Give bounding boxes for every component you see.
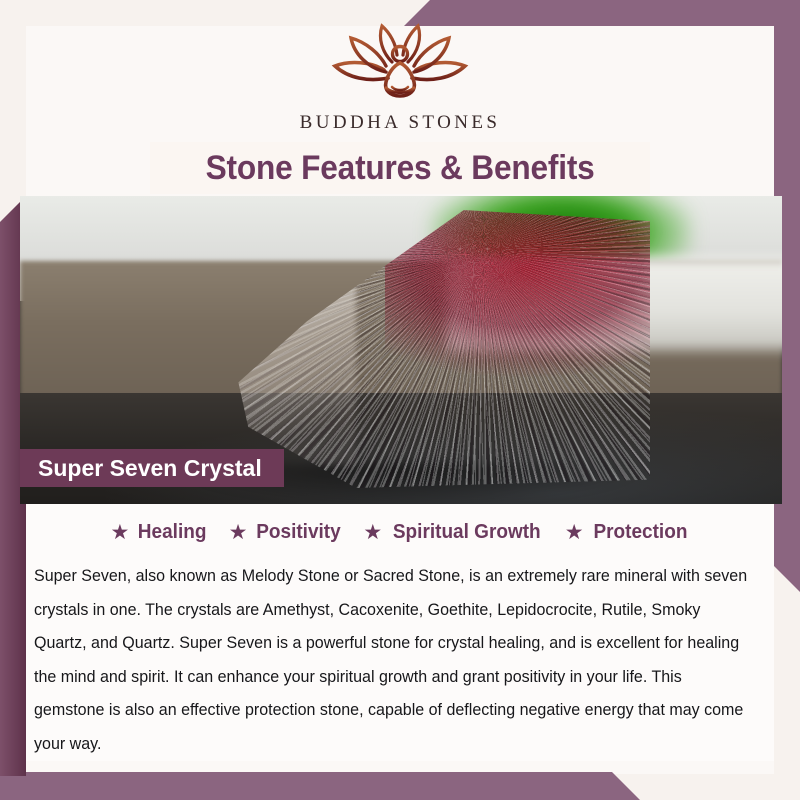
star-icon: ★ — [565, 522, 584, 543]
title-banner: Stone Features & Benefits — [150, 142, 650, 194]
benefit-item-healing: ★ Healing — [111, 521, 209, 544]
brand-logo: BUDDHA STONES — [0, 22, 800, 134]
benefit-label: Healing — [138, 521, 207, 544]
star-icon: ★ — [363, 522, 382, 543]
benefit-item-protection: ★ Protection — [565, 521, 690, 544]
page-title: Stone Features & Benefits — [206, 149, 595, 188]
benefit-item-spiritual-growth: ★ Spiritual Growth — [363, 521, 544, 544]
frame-bottom-band — [0, 772, 640, 800]
benefit-item-positivity: ★ Positivity — [229, 521, 344, 544]
content-panel: ★ Healing ★ Positivity ★ Spiritual Growt… — [26, 504, 774, 761]
benefit-label: Protection — [593, 521, 687, 544]
stone-name-label: Super Seven Crystal — [38, 455, 262, 482]
benefits-list: ★ Healing ★ Positivity ★ Spiritual Growt… — [26, 504, 774, 544]
lotus-meditation-icon — [310, 22, 490, 108]
stone-description: Super Seven, also known as Melody Stone … — [34, 560, 755, 761]
star-icon: ★ — [111, 522, 130, 543]
stone-name-badge: Super Seven Crystal — [20, 449, 284, 487]
benefit-label: Positivity — [257, 521, 341, 544]
benefit-label: Spiritual Growth — [393, 521, 541, 544]
brand-wordmark: BUDDHA STONES — [0, 112, 800, 134]
star-icon: ★ — [229, 522, 248, 543]
infographic-poster: BUDDHA STONES Stone Features & Benefits … — [0, 0, 800, 800]
